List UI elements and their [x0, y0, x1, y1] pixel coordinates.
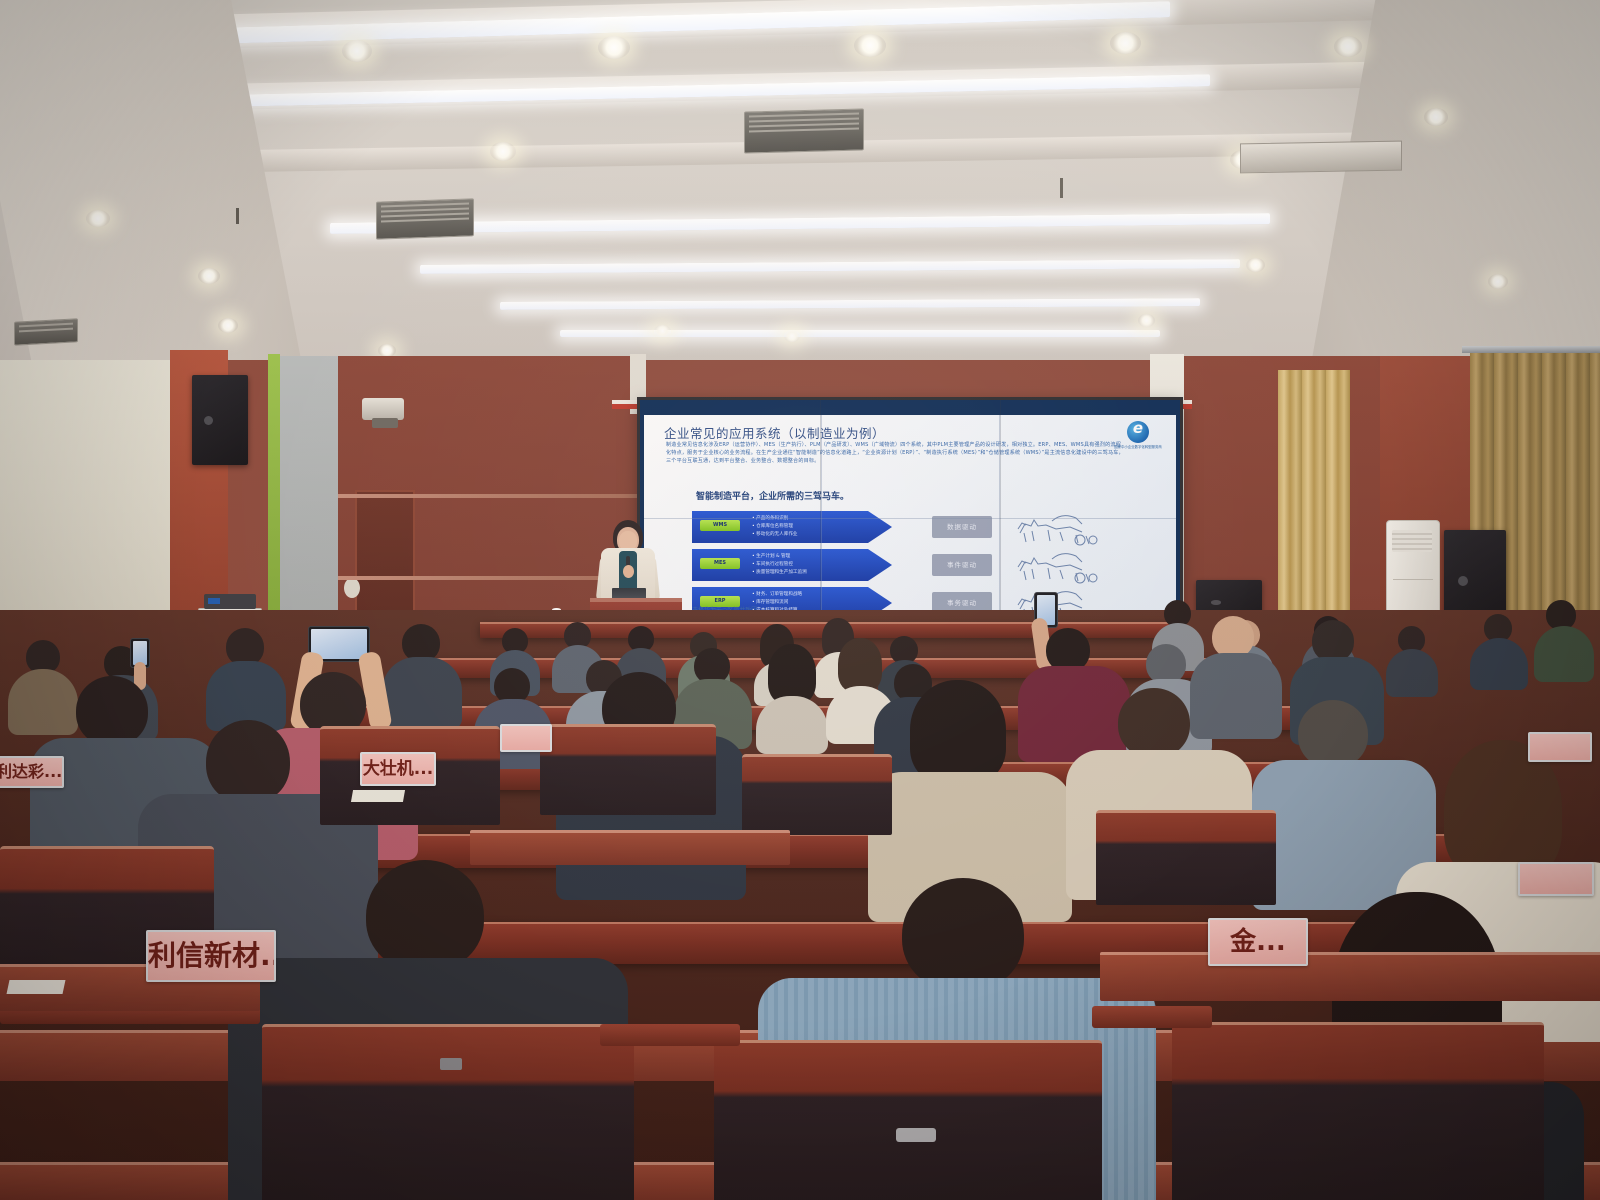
projector-mount — [362, 398, 404, 420]
table-nameplate: 大壮机... — [360, 752, 436, 786]
curtain-rail — [1462, 346, 1600, 353]
chair[interactable] — [540, 724, 716, 815]
ceiling-vent — [744, 108, 864, 153]
driver-label-event: 事件驱动 — [932, 554, 992, 576]
chair[interactable] — [1096, 810, 1276, 905]
table-nameplate: 利达彩... — [0, 756, 64, 788]
ceiling — [0, 0, 1600, 400]
handout-paper[interactable] — [7, 980, 66, 994]
bullet: 库存管理和流闲 — [752, 599, 892, 607]
horse-carriage-icon — [1014, 509, 1100, 547]
chair-badge — [896, 1128, 936, 1142]
equipment-rack — [204, 594, 256, 609]
wall-clock-icon — [344, 578, 360, 598]
slide-row-wms: WMS 产品的条码识别 仓库库位名称管理 移动化的无人库作业 — [692, 511, 912, 543]
tag-mes: MES — [700, 558, 740, 569]
table-nameplate: 利信新材... — [146, 930, 276, 982]
sprinkler-icon — [236, 208, 239, 224]
armrest — [600, 1024, 740, 1046]
chair[interactable] — [714, 1040, 1102, 1200]
table-nameplate: 金... — [1208, 918, 1308, 966]
desk-edge — [1100, 952, 1600, 1001]
slide-subtitle: 智能制造平台，企业所需的三驾马车。 — [696, 489, 849, 502]
chair[interactable] — [1172, 1022, 1544, 1200]
wall-speaker-left — [192, 375, 248, 465]
handout-paper[interactable] — [351, 790, 405, 802]
ceiling-vent — [14, 318, 78, 345]
horse-carriage-icon — [1014, 547, 1100, 585]
presentation-slide: 企业常见的应用系统（以制造业为例） 制造业常见信息化涉及ERP（运营协作）、ME… — [644, 415, 1176, 620]
driver-label-data: 数据驱动 — [932, 516, 992, 538]
presenter-hand — [623, 565, 634, 578]
bullet: 车间执行过程管控 — [752, 561, 892, 569]
table-nameplate — [500, 724, 552, 752]
armrest — [1092, 1006, 1212, 1028]
slide-title: 企业常见的应用系统（以制造业为例） — [664, 423, 885, 442]
ceiling-ac-cassette — [1240, 141, 1402, 174]
chair[interactable] — [742, 754, 892, 835]
slide-logo: 国家中小企业数字化转型服务商 — [1112, 421, 1164, 449]
chair[interactable] — [262, 1024, 634, 1200]
bullet: 财务、订单管理和战略 — [752, 591, 892, 599]
bullet: 生产计划 & 管理 — [752, 553, 892, 561]
table-nameplate — [1528, 732, 1592, 762]
ac-grille — [1392, 530, 1432, 552]
sprinkler-icon — [1060, 178, 1063, 198]
bullet: 质量管理和生产加工追溯 — [752, 569, 892, 577]
arrow-shape-wms: WMS 产品的条码识别 仓库库位名称管理 移动化的无人库作业 — [692, 511, 892, 543]
conference-hall-photo: 企业常见的应用系统（以制造业为例） 制造业常见信息化涉及ERP（运营协作）、ME… — [0, 0, 1600, 1200]
table-nameplate — [1518, 862, 1594, 896]
slide-body-text: 制造业常见信息化涉及ERP（运营协作）、MES（生产执行）、PLM（产品研发）、… — [666, 442, 1126, 466]
bullet: 仓库库位名称管理 — [752, 523, 892, 531]
desk-edge — [470, 830, 790, 865]
ceiling-vent — [376, 198, 474, 239]
chair-badge — [440, 1058, 462, 1070]
gear-e-logo-icon — [1127, 421, 1149, 443]
logo-caption: 国家中小企业数字化转型服务商 — [1112, 444, 1164, 449]
slide-row-mes: MES 生产计划 & 管理 车间执行过程管控 质量管理和生产加工追溯 — [692, 549, 912, 581]
tag-wms: WMS — [700, 520, 740, 531]
bullet: 产品的条码识别 — [752, 515, 892, 523]
arrow-shape-mes: MES 生产计划 & 管理 车间执行过程管控 质量管理和生产加工追溯 — [692, 549, 892, 581]
video-wall[interactable]: 企业常见的应用系统（以制造业为例） 制造业常见信息化涉及ERP（运营协作）、ME… — [640, 400, 1180, 625]
bullet: 移动化的无人库作业 — [752, 531, 892, 539]
ceiling-projector — [372, 418, 398, 428]
